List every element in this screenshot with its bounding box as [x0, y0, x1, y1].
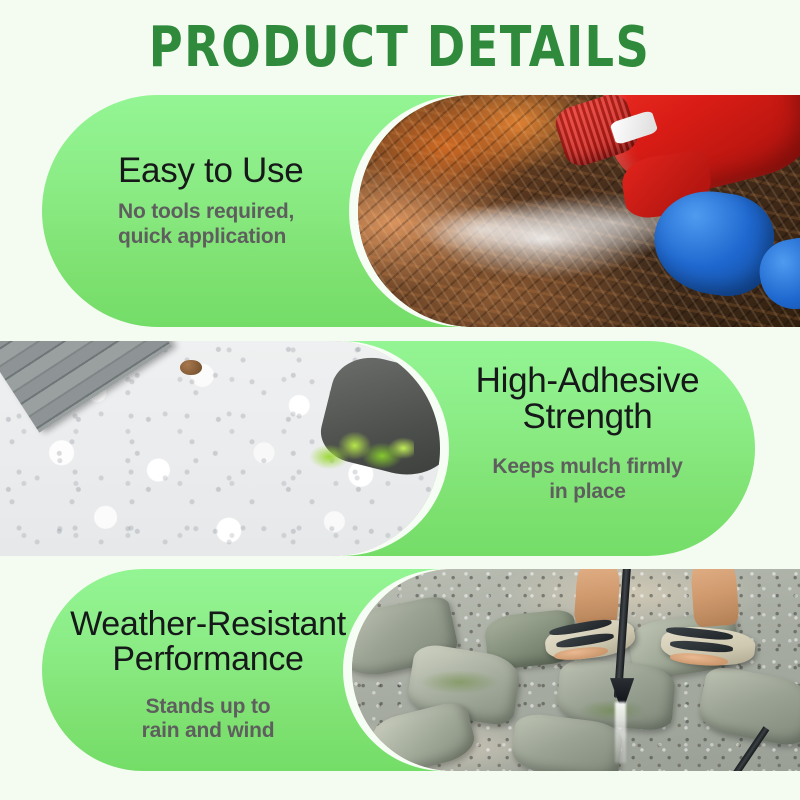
feature-title: High-Adhesive Strength — [435, 363, 740, 436]
feature-image-white-gravel — [0, 341, 440, 556]
feature-subtitle: No tools required, quick application — [118, 200, 303, 250]
feature-text-block: Weather-Resistant Performance Stands up … — [52, 607, 364, 744]
feature-subtitle-line-2: quick application — [118, 225, 303, 250]
leg-left — [574, 569, 621, 627]
feature-title-line-1: High-Adhesive — [435, 363, 740, 399]
page-title: PRODUCT DETAILS — [149, 20, 650, 76]
green-plant — [308, 431, 414, 474]
feature-image-spray-bottle-mulch — [358, 95, 800, 327]
feature-subtitle-line-1: No tools required, — [118, 200, 303, 225]
feature-subtitle-line-2: rain and wind — [52, 719, 364, 744]
feature-title-line-2: Performance — [52, 642, 364, 677]
feature-subtitle: Stands up to rain and wind — [52, 695, 364, 745]
feature-subtitle-line-1: Stands up to — [52, 695, 364, 720]
feature-text-block: High-Adhesive Strength Keeps mulch firml… — [435, 363, 740, 504]
page-header: PRODUCT DETAILS — [0, 0, 800, 95]
feature-panel-easy-to-use: Easy to Use No tools required, quick app… — [0, 95, 800, 327]
water-jet — [615, 702, 627, 763]
feature-text-block: Easy to Use No tools required, quick app… — [118, 153, 303, 250]
feature-subtitle: Keeps mulch firmly in place — [435, 455, 740, 505]
feature-image-rocks-sandals-spray — [352, 569, 800, 771]
feature-title-line-2: Strength — [435, 399, 740, 435]
feature-title-line-1: Weather-Resistant — [52, 607, 364, 642]
feature-subtitle-line-2: in place — [435, 480, 740, 505]
leg-right — [690, 569, 740, 627]
feature-title: Easy to Use — [118, 153, 303, 189]
feature-panel-weather-resistant-performance: Weather-Resistant Performance Stands up … — [0, 569, 800, 771]
feature-subtitle-line-1: Keeps mulch firmly — [435, 455, 740, 480]
feature-title: Weather-Resistant Performance — [52, 607, 364, 678]
feature-panel-high-adhesive-strength: High-Adhesive Strength Keeps mulch firml… — [0, 341, 800, 556]
